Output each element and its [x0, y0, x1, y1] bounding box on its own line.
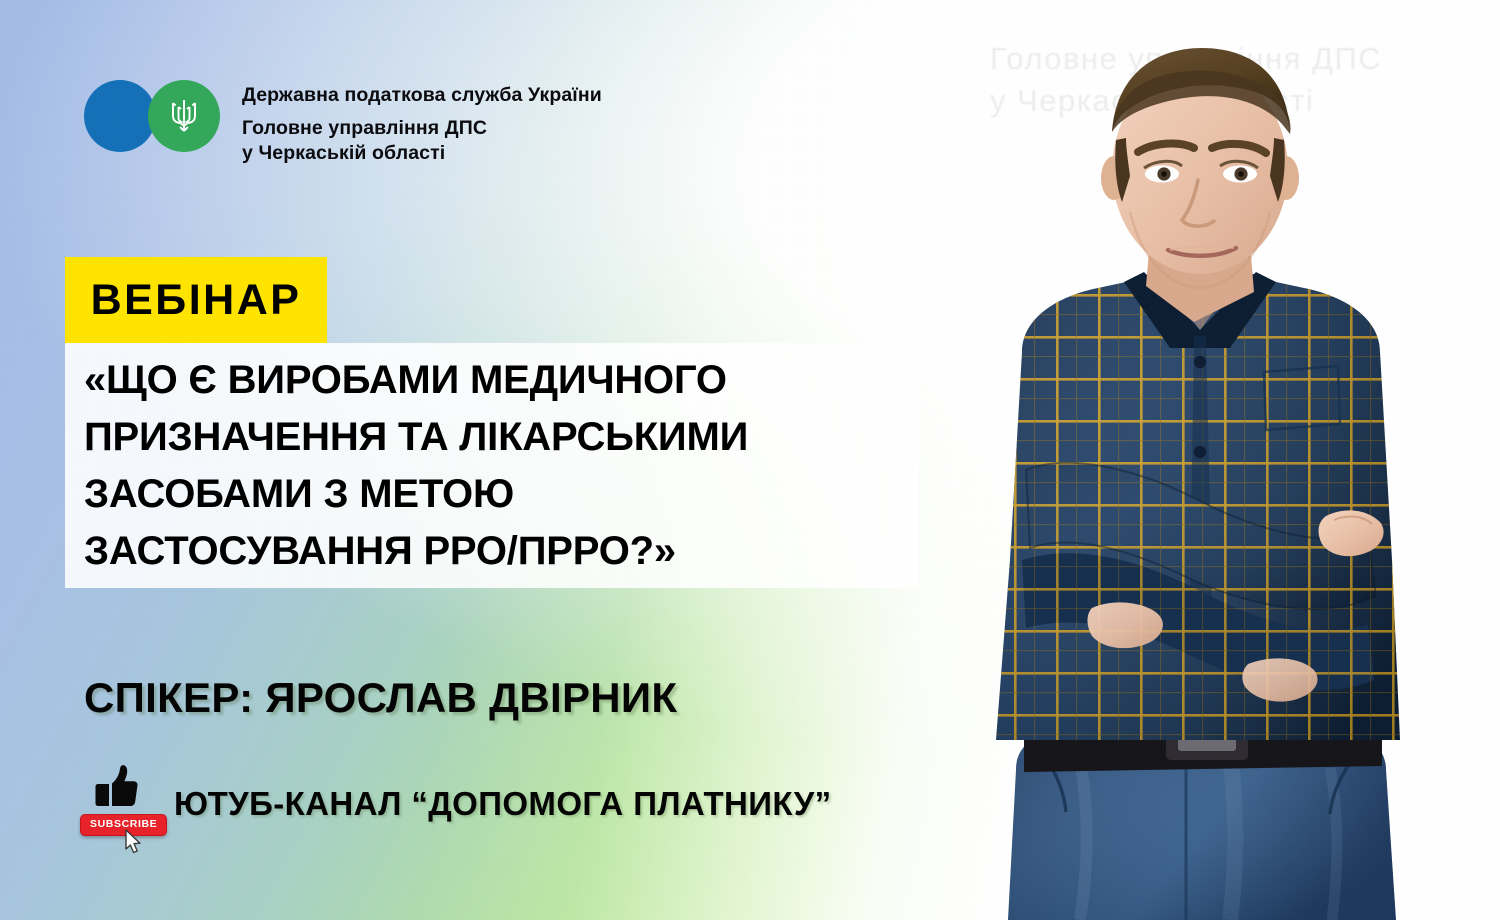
- thumbs-up-icon: [92, 762, 140, 810]
- organization-name: Державна податкова служба України: [242, 82, 602, 108]
- youtube-channel-label: ЮТУБ-КАНАЛ “ДОПОМОГА ПЛАТНИКУ”: [174, 785, 832, 823]
- dps-logo-block: Державна податкова служба України Головн…: [84, 80, 602, 166]
- speaker-name: СПІКЕР: ЯРОСЛАВ ДВІРНИК: [84, 674, 677, 722]
- webinar-badge: ВЕБІНАР: [65, 257, 327, 343]
- logo-text: Державна податкова служба України Головн…: [242, 80, 602, 166]
- youtube-channel-row: SUBSCRIBE ЮТУБ-КАНАЛ “ДОПОМОГА ПЛАТНИКУ”: [80, 762, 832, 846]
- webinar-badge-label: ВЕБІНАР: [91, 279, 302, 322]
- speaker-photo: [930, 0, 1500, 920]
- webinar-announcement-poster: Головне управління ДПС у Черкаській обла…: [0, 0, 1500, 920]
- blue-circle-icon: [84, 80, 156, 152]
- organization-unit: Головне управління ДПС у Черкаській обла…: [242, 116, 602, 166]
- green-circle-icon: [148, 80, 220, 152]
- subscribe-button[interactable]: SUBSCRIBE: [80, 814, 167, 836]
- webinar-title: «ЩО Є ВИРОБАМИ МЕДИЧНОГО ПРИЗНАЧЕННЯ ТА …: [84, 352, 924, 580]
- ukrainian-trident-icon: [169, 96, 199, 136]
- logo-marks: [84, 80, 220, 152]
- subscribe-button-label: SUBSCRIBE: [90, 819, 157, 830]
- youtube-icon-group: SUBSCRIBE: [80, 762, 152, 846]
